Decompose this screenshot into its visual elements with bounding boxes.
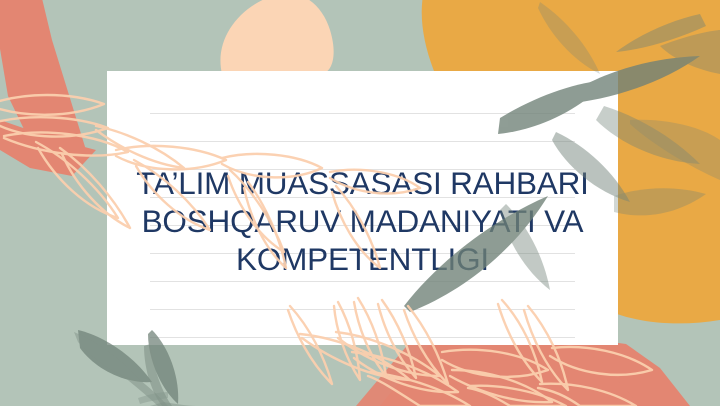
lineart-branch-bottom-icon xyxy=(288,298,652,406)
leaf-sprig-icon xyxy=(74,330,196,406)
lineart-branch-icon xyxy=(0,95,420,268)
foreground-decor xyxy=(0,0,720,406)
title-slide: TA’LIM MUASSASASI RAHBARI BOSHQARUV MADA… xyxy=(0,0,720,406)
olive-branch-icon xyxy=(404,2,720,312)
